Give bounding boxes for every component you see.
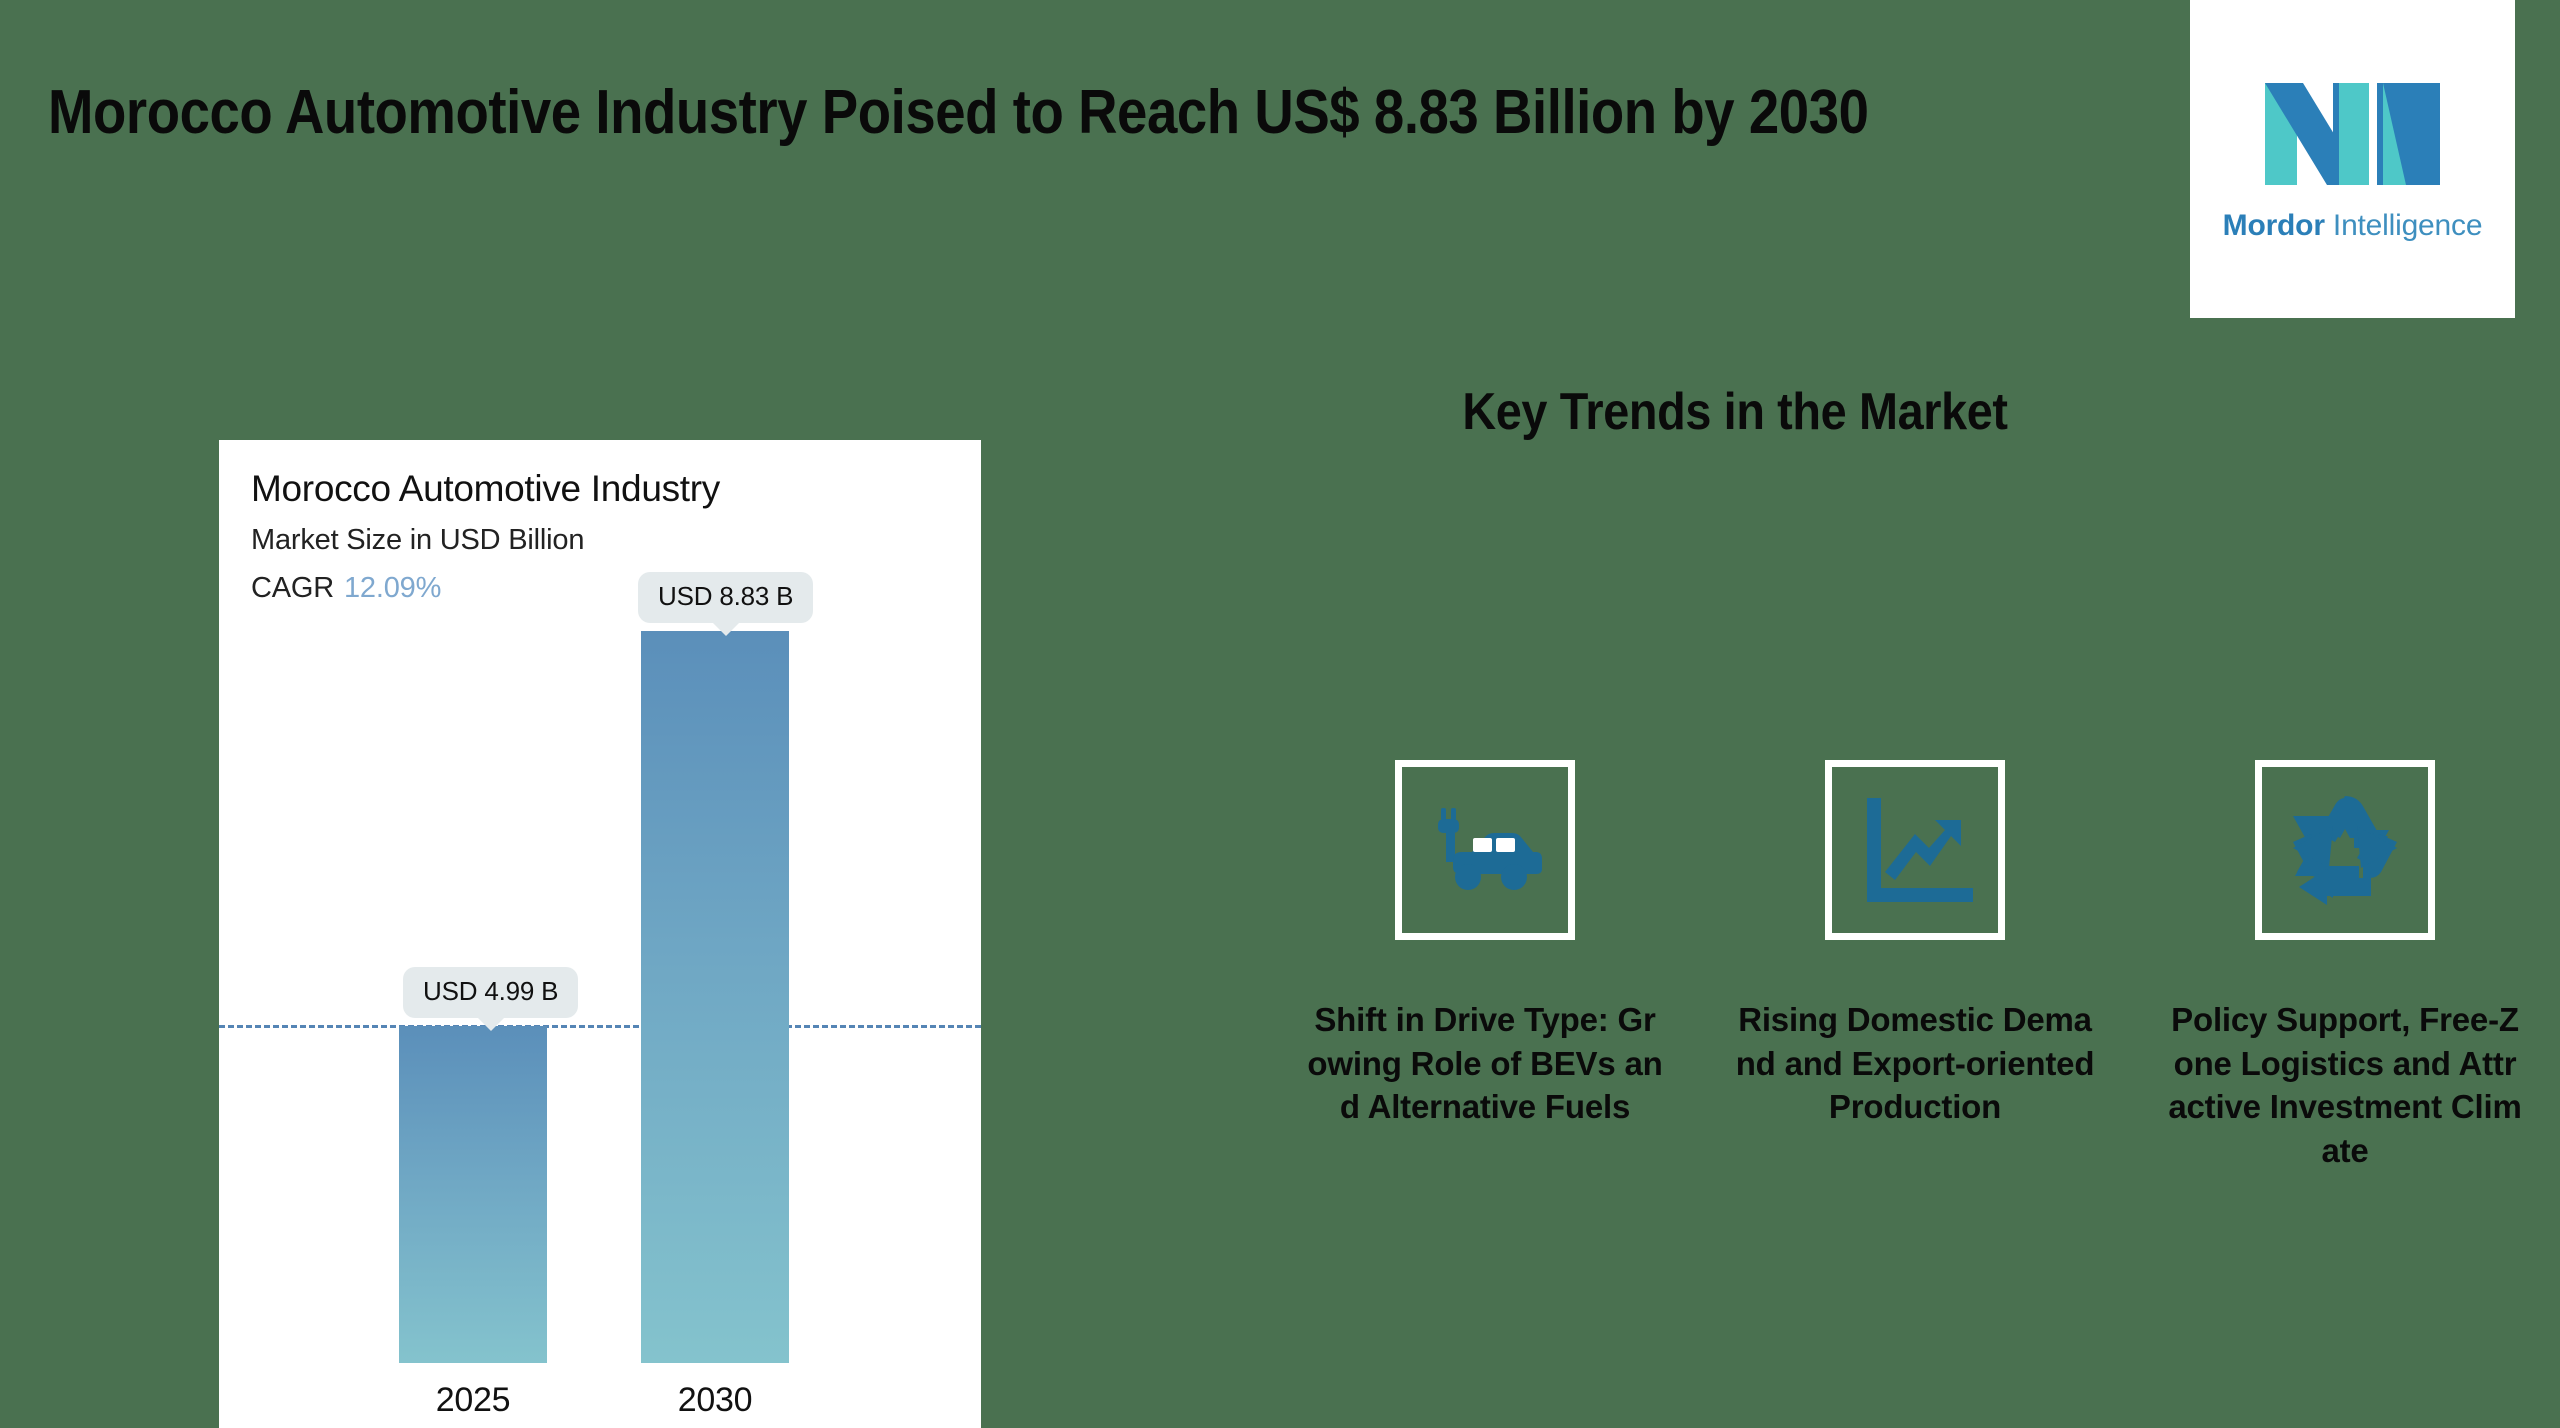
bar-2030[interactable]: [641, 631, 789, 1363]
x-axis-label-2030: 2030: [641, 1381, 789, 1420]
electric-car-icon: [1425, 790, 1545, 910]
mordor-mark-icon: [2265, 75, 2440, 193]
bar-2025[interactable]: [399, 1026, 547, 1363]
growth-chart-icon: [1855, 790, 1975, 910]
brand-logo-card: Mordor Intelligence: [2190, 0, 2515, 318]
trend-caption: Policy Support, Free-Zone Logistics and …: [2165, 998, 2525, 1172]
x-axis-label-2025: 2025: [399, 1381, 547, 1420]
trend-caption: Shift in Drive Type: Growing Role of BEV…: [1305, 998, 1665, 1129]
market-size-chart-card: Morocco Automotive Industry Market Size …: [219, 440, 981, 1428]
reference-dashed-line: [219, 1025, 981, 1028]
bar-chart-plot: USD 4.99 B USD 8.83 B 2025 2030: [219, 440, 981, 1428]
trend-card-drive-type[interactable]: Shift in Drive Type: Growing Role of BEV…: [1270, 760, 1700, 1129]
trend-caption: Rising Domestic Demand and Export-orient…: [1735, 998, 2095, 1129]
logo-word-light: Intelligence: [2325, 209, 2483, 242]
trend-icon-box: [1825, 760, 2005, 940]
key-trends-list: Shift in Drive Type: Growing Role of BEV…: [1270, 760, 2560, 1172]
trend-icon-box: [1395, 760, 1575, 940]
value-label-2030: USD 8.83 B: [638, 572, 813, 623]
key-trends-heading: Key Trends in the Market: [1366, 382, 2104, 442]
trend-card-policy-support[interactable]: Policy Support, Free-Zone Logistics and …: [2130, 760, 2560, 1172]
logo-word-bold: Mordor: [2223, 209, 2325, 242]
trend-icon-box: [2255, 760, 2435, 940]
page-title: Morocco Automotive Industry Poised to Re…: [48, 78, 1887, 147]
logo-wordmark: Mordor Intelligence: [2223, 209, 2483, 243]
value-label-2025: USD 4.99 B: [403, 967, 578, 1018]
trend-card-domestic-demand[interactable]: Rising Domestic Demand and Export-orient…: [1700, 760, 2130, 1129]
recycling-icon: [2285, 790, 2405, 910]
